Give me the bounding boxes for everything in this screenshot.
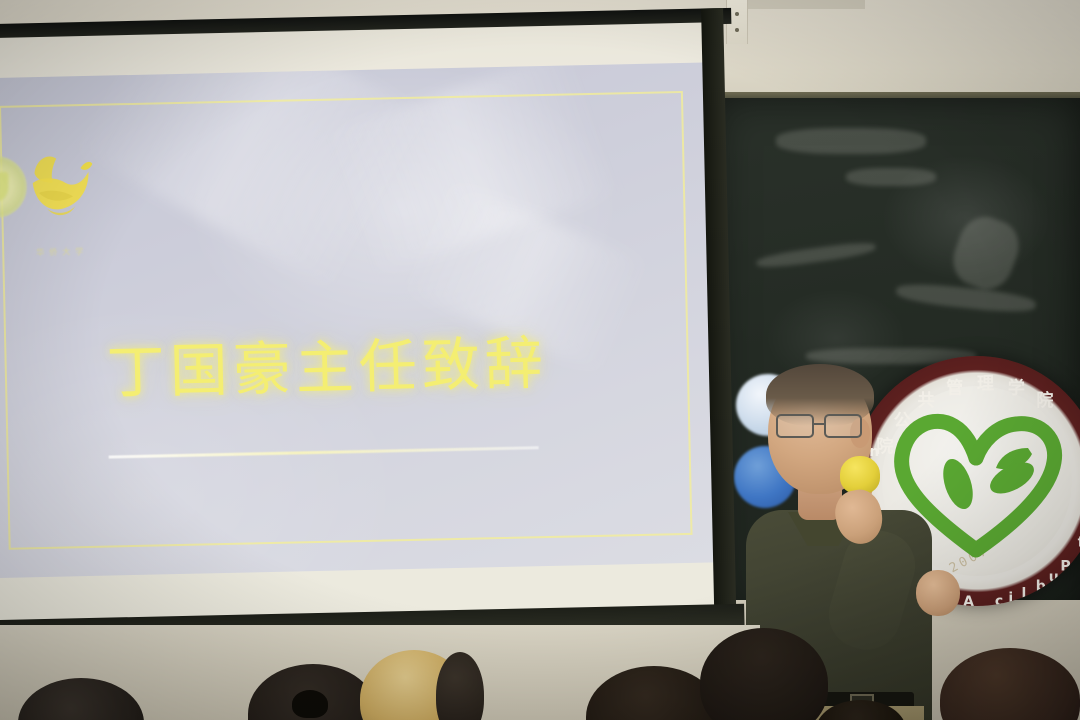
phoenix-emblem-caption: 华侨大学 — [36, 246, 90, 258]
presentation-slide: 华侨大学 丁国豪主任致辞 — [0, 62, 715, 578]
microphone-windscreen — [840, 456, 880, 494]
ceiling-strip — [745, 0, 865, 9]
bracket-screw — [735, 12, 739, 16]
screen-canvas: 华侨大学 丁国豪主任致辞 — [0, 22, 716, 624]
presenter-other-hand — [916, 570, 960, 616]
slide-title: 丁国豪主任致辞 — [106, 315, 578, 409]
eyeglasses-icon — [776, 414, 872, 440]
photograph-lecture-hall: 院 公 共 管 理 学 院 f P u b l i c A d m i n i … — [0, 0, 1080, 720]
bracket-screw — [735, 28, 739, 32]
projection-screen: 华侨大学 丁国豪主任致辞 — [0, 8, 745, 652]
audience-hair-tie — [292, 690, 328, 718]
phoenix-emblem-logo: 华侨大学 — [22, 152, 96, 232]
